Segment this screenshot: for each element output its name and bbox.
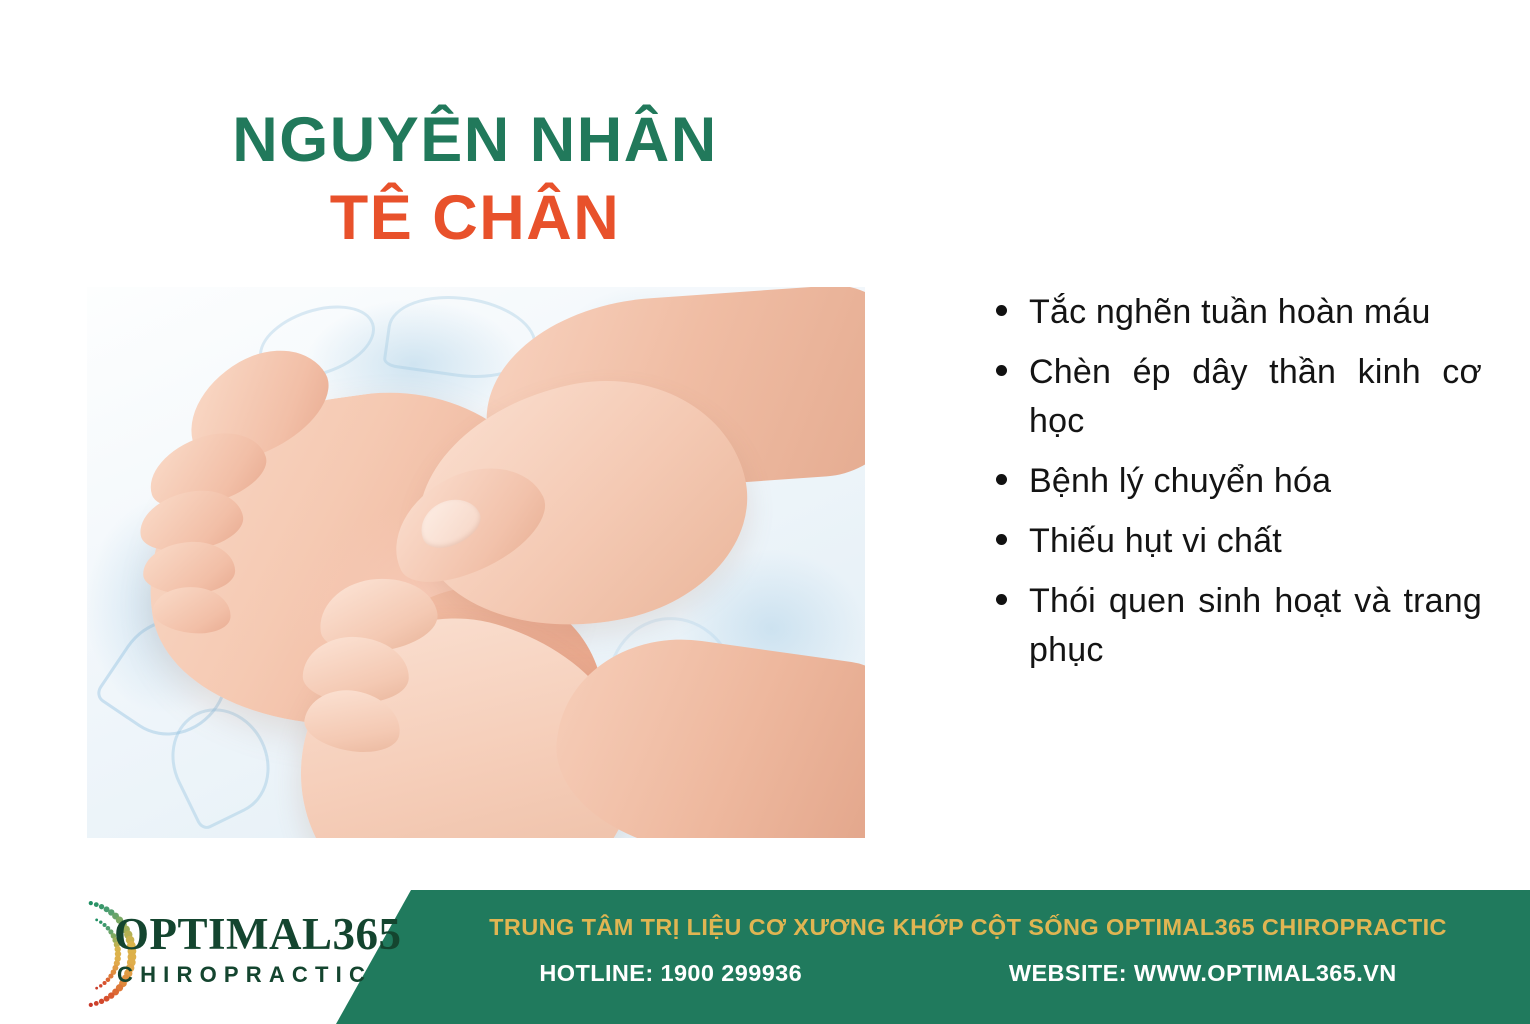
- cause-text: Thói quen sinh hoạt và trang phục: [1029, 577, 1482, 675]
- logo-wordmark: OPTIMAL365 CHIROPRACTIC: [114, 912, 402, 986]
- optimal365-logo: OPTIMAL365 CHIROPRACTIC: [18, 892, 348, 1016]
- infographic-poster: NGUYÊN NHÂN TÊ CHÂN: [0, 0, 1530, 1024]
- list-item: Thiếu hụt vi chất: [996, 517, 1482, 566]
- list-item: Tắc nghẽn tuần hoàn máu: [996, 288, 1482, 337]
- footer-contact-row: HOTLINE: 1900 299936 WEBSITE: WWW.OPTIMA…: [436, 960, 1500, 987]
- clinic-name: TRUNG TÂM TRỊ LIỆU CƠ XƯƠNG KHỚP CỘT SỐN…: [436, 914, 1500, 941]
- list-item: Chèn ép dây thần kinh cơ học: [996, 348, 1482, 446]
- bullet-dot-icon: [996, 474, 1007, 485]
- photo-background-sheet: [87, 287, 865, 838]
- causes-list: Tắc nghẽn tuần hoàn máu Chèn ép dây thần…: [996, 288, 1482, 686]
- cause-text: Bệnh lý chuyển hóa: [1029, 457, 1482, 506]
- cause-text: Thiếu hụt vi chất: [1029, 517, 1482, 566]
- bullet-dot-icon: [996, 305, 1007, 316]
- title-line-primary: NGUYÊN NHÂN: [0, 104, 950, 176]
- hotline-text[interactable]: HOTLINE: 1900 299936: [539, 960, 802, 987]
- foot-massage-photo: [87, 287, 865, 838]
- footer-banner: TRUNG TÂM TRỊ LIỆU CƠ XƯƠNG KHỚP CỘT SỐN…: [336, 890, 1530, 1024]
- logo-tagline: CHIROPRACTIC: [117, 964, 402, 986]
- logo-name: OPTIMAL365: [114, 912, 402, 957]
- title-line-secondary: TÊ CHÂN: [0, 182, 950, 254]
- bullet-dot-icon: [996, 594, 1007, 605]
- list-item: Bệnh lý chuyển hóa: [996, 457, 1482, 506]
- cause-text: Chèn ép dây thần kinh cơ học: [1029, 348, 1482, 446]
- bullet-dot-icon: [996, 534, 1007, 545]
- website-text[interactable]: WEBSITE: WWW.OPTIMAL365.VN: [1009, 960, 1397, 987]
- cause-text: Tắc nghẽn tuần hoàn máu: [1029, 288, 1482, 337]
- list-item: Thói quen sinh hoạt và trang phục: [996, 577, 1482, 675]
- bullet-dot-icon: [996, 365, 1007, 376]
- poster-title: NGUYÊN NHÂN TÊ CHÂN: [0, 104, 950, 255]
